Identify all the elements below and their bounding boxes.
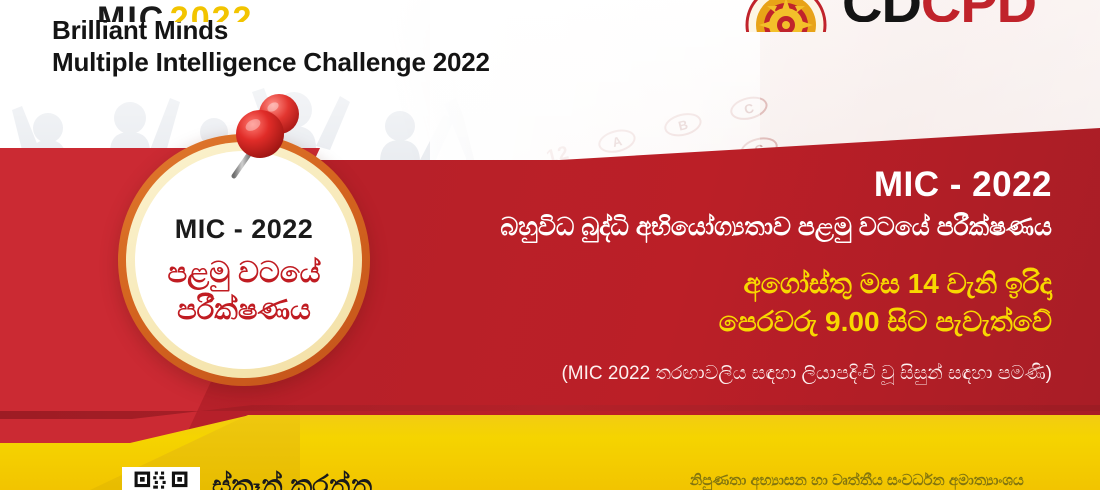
- badge-title: MIC - 2022: [175, 214, 314, 245]
- cdcpd-cd: CD: [842, 0, 921, 22]
- mic-logo-text: MIC: [97, 0, 165, 22]
- info-heading: MIC - 2022: [412, 166, 1052, 205]
- cdcpd-logo-text: CDCPD: [842, 0, 1036, 22]
- qr-code[interactable]: [122, 467, 200, 490]
- badge-sinhala-line-2: පරීක්ෂණය: [177, 292, 311, 328]
- cdcpd-logo: CDCPD: [842, 0, 1092, 22]
- red-pushpin-icon: [222, 88, 314, 184]
- info-time: පෙරවරු 9.00 සිට පැවැත්වේ: [412, 303, 1052, 341]
- government-emblem-icon: [745, 0, 827, 32]
- scan-instruction-label: ස්කෑන් කරන්න: [212, 470, 372, 490]
- badge-sinhala-line-1: පළමු වටයේ: [168, 255, 321, 291]
- ministry-name-label: නිපුණතා අභ්‍යාසන හා වෘත්තීය සංවර්ධන අමාත…: [690, 472, 1090, 490]
- header-line-2: Multiple Intelligence Challenge 2022: [52, 46, 572, 78]
- event-info-block: MIC - 2022 බහුවිධ බුද්ධි අභියෝග්‍යතාව පළ…: [412, 166, 1052, 385]
- mic-logo: MIC 2022: [97, 0, 327, 22]
- info-note: (MIC 2022 තරඟාවලිය සඳහා ලියාපදිංචි වූ සි…: [412, 363, 1052, 385]
- info-date: අගෝස්තු මස 14 වැනි ඉරිදා: [412, 265, 1052, 303]
- poster-canvas: 12 A B C 13 A B C 14 A B C 15 A B C: [0, 0, 1100, 490]
- header-block: MIC 2022 Brilliant Minds Multiple Intell…: [52, 14, 572, 78]
- mic-logo-year: 2022: [170, 0, 254, 22]
- info-subtitle: බහුවිධ බුද්ධි අභියෝග්‍යතාව පළමු වටයේ පරී…: [412, 211, 1052, 244]
- cdcpd-cpd: CPD: [921, 0, 1036, 22]
